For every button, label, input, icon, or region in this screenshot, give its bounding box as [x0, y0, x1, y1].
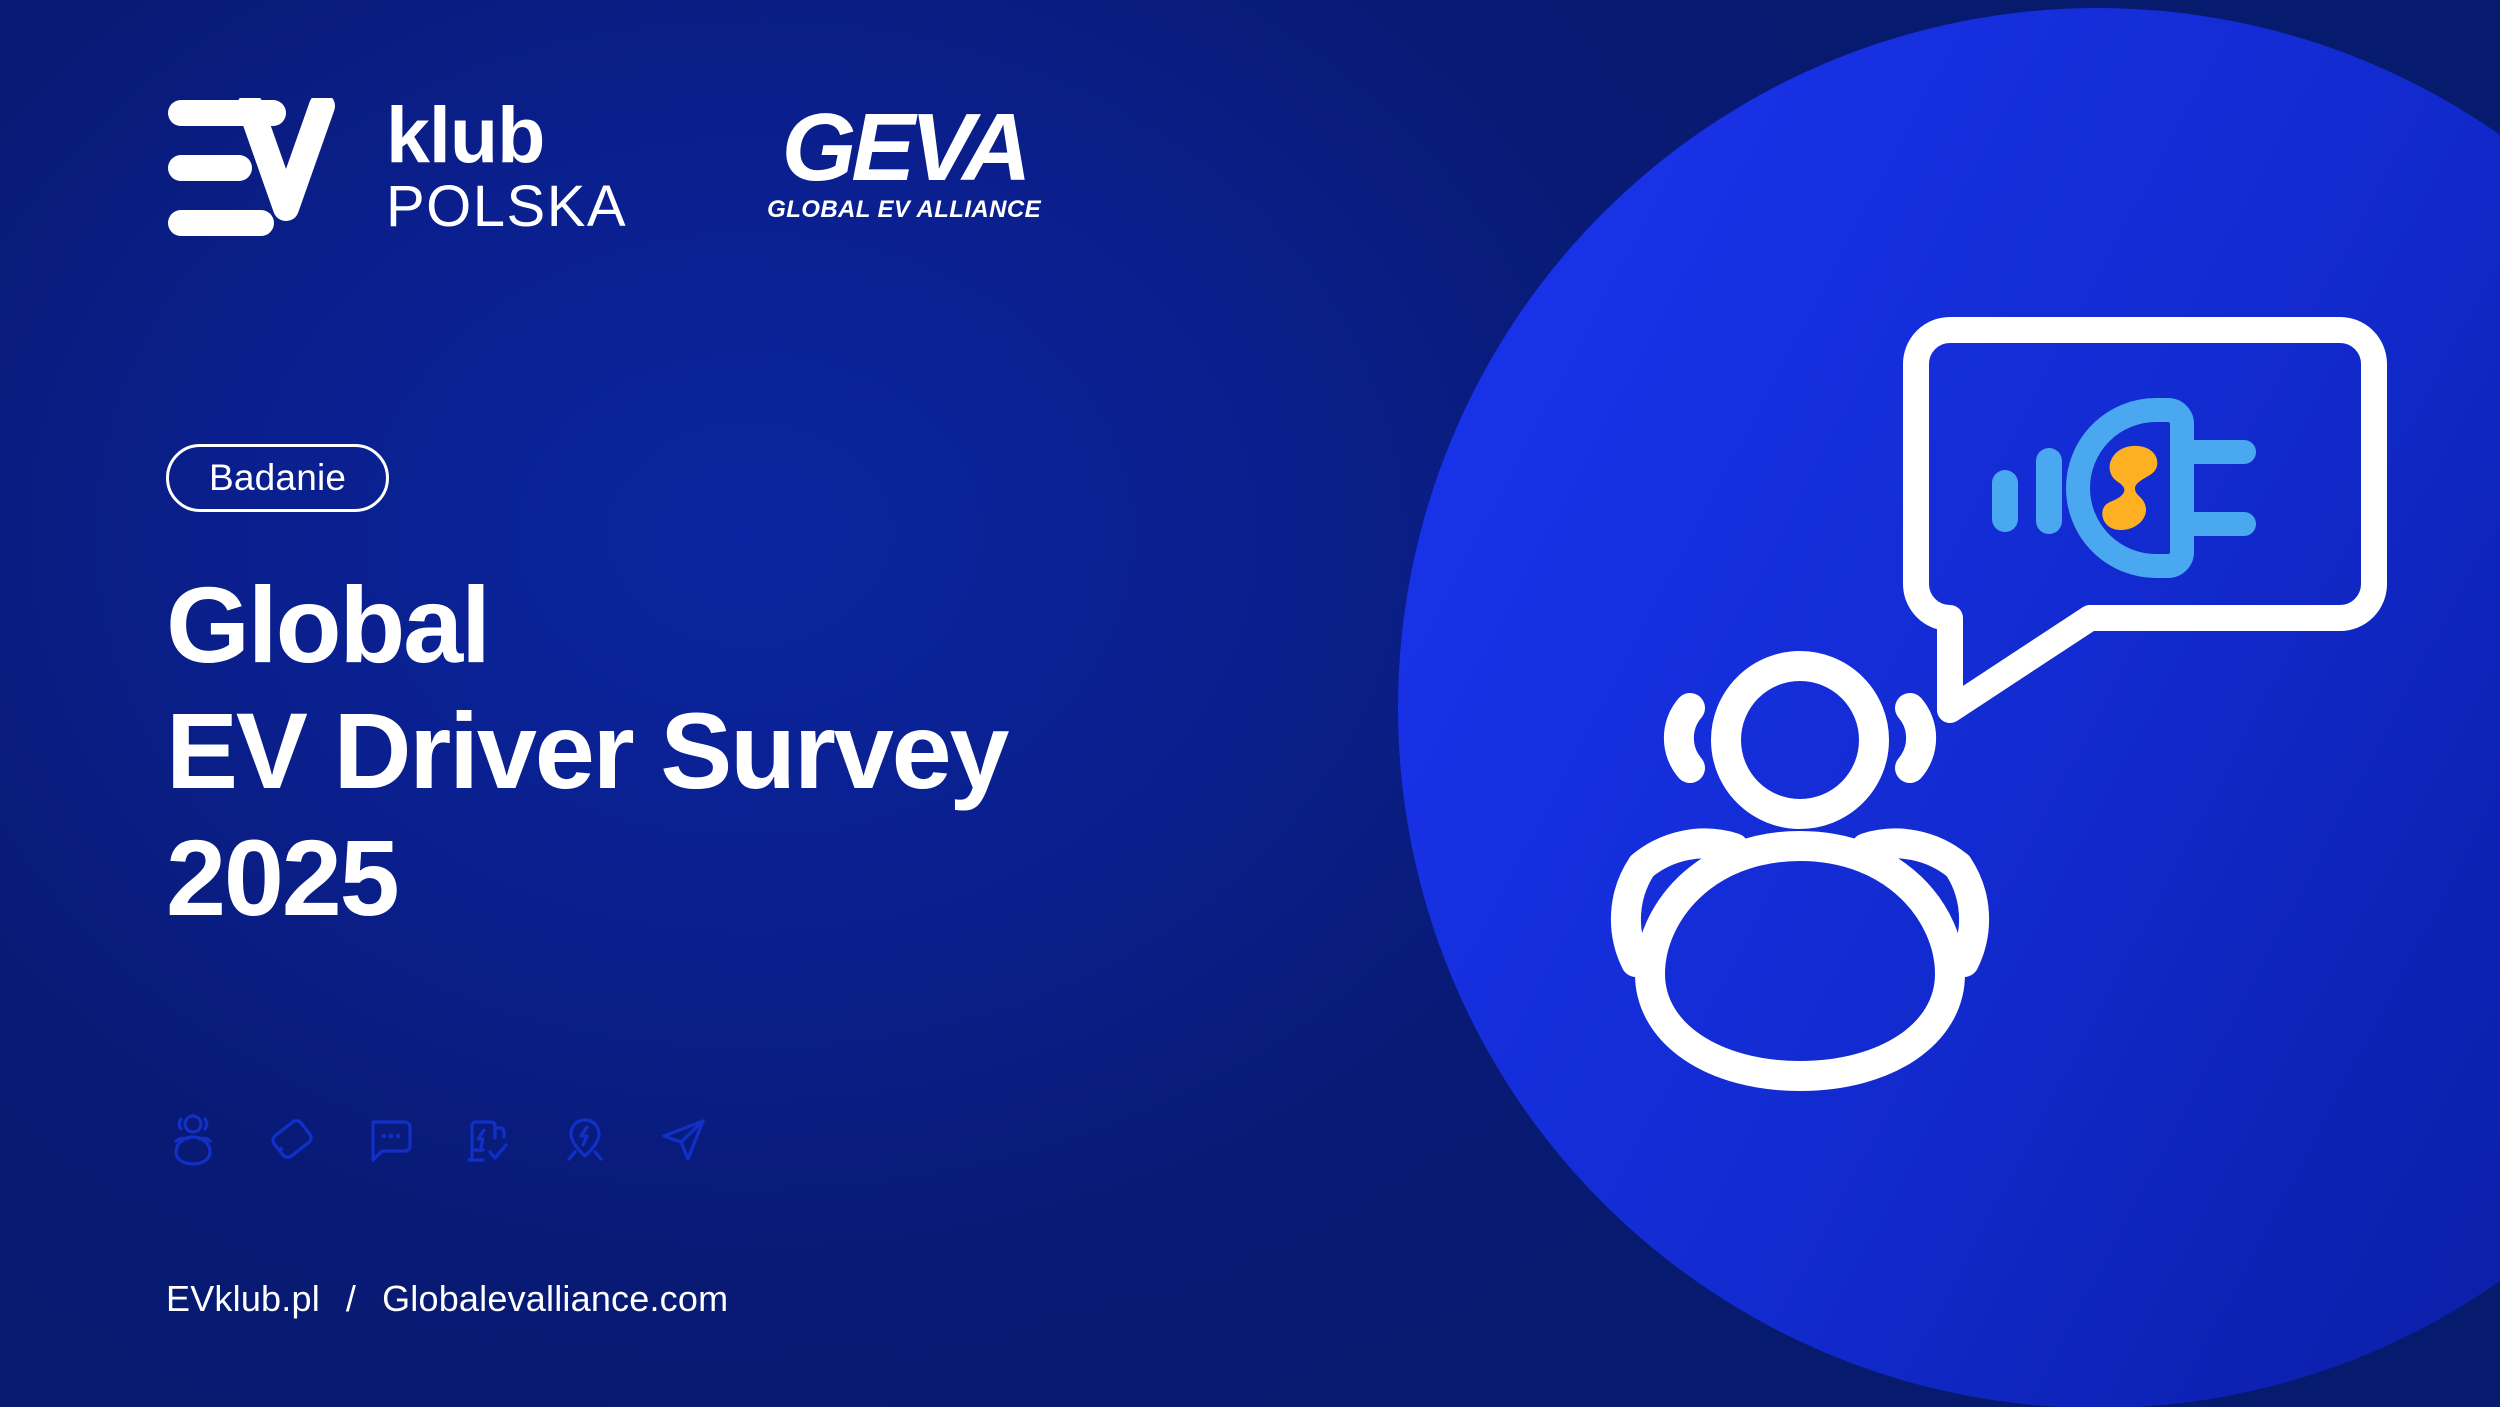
ev-bars-v-mark-icon — [168, 98, 364, 238]
footer-separator: / — [346, 1278, 356, 1320]
geva-logo[interactable]: GEVA GLOBAL EV ALLIANCE — [767, 104, 1041, 224]
polska-word: POLSKA — [386, 176, 627, 237]
people-group-icon — [163, 1110, 223, 1170]
left-content-column: klub POLSKA GEVA GLOBAL EV ALLIANCE Bada… — [0, 0, 1400, 1407]
logo-row: klub POLSKA GEVA GLOBAL EV ALLIANCE — [168, 98, 1041, 238]
evklub-wordmark: klub POLSKA — [386, 98, 627, 238]
send-plane-icon — [653, 1110, 713, 1170]
footer-link-globalevalliance[interactable]: Globalevalliance.com — [382, 1278, 728, 1320]
location-pin-bolt-icon — [555, 1110, 615, 1170]
tag-icon — [261, 1110, 321, 1170]
people-group-illustration — [1626, 666, 1974, 1076]
poster-canvas: klub POLSKA GEVA GLOBAL EV ALLIANCE Bada… — [0, 0, 2500, 1407]
chat-bubble-dots-icon — [359, 1110, 419, 1170]
speech-bubble-plug-illustration — [1916, 330, 2374, 710]
title-line-1: Global — [166, 562, 1007, 688]
title-line-2: EV Driver Survey — [166, 688, 1007, 814]
geva-tagline: GLOBAL EV ALLIANCE — [767, 196, 1041, 224]
hero-illustration — [1520, 300, 2420, 1100]
evklub-polska-logo[interactable]: klub POLSKA — [168, 98, 627, 238]
footer-links: EVklub.pl / Globalevalliance.com — [166, 1278, 728, 1320]
title-line-3: 2025 — [166, 815, 1007, 941]
footer-link-evklub[interactable]: EVklub.pl — [166, 1278, 320, 1320]
page-title: Global EV Driver Survey 2025 — [166, 562, 1007, 941]
charging-station-check-icon — [457, 1110, 517, 1170]
status-badge: Badanie — [166, 444, 389, 512]
geva-word: GEVA — [782, 104, 1027, 192]
klub-word: klub — [386, 98, 627, 172]
decorative-icon-strip — [163, 1110, 713, 1170]
